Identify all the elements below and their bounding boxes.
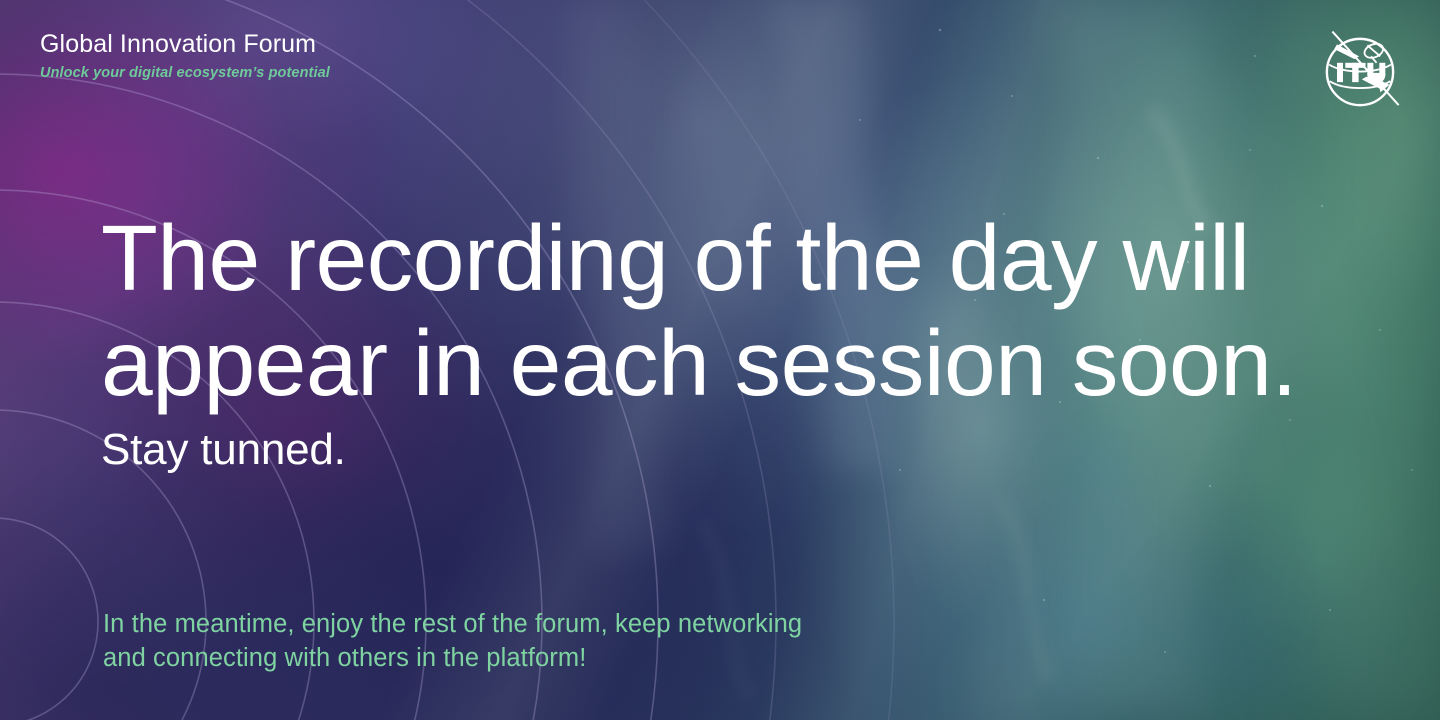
presentation-slide: Global Innovation Forum Unlock your digi…	[0, 0, 1440, 720]
headline-line-2: appear in each session soon.	[101, 311, 1331, 416]
footer-note-line-2: and connecting with others in the platfo…	[103, 642, 802, 676]
brand-tagline: Unlock your digital ecosystem’s potentia…	[40, 66, 330, 81]
itu-logo-icon	[1314, 26, 1406, 118]
brand-title: Global Innovation Forum	[40, 32, 330, 57]
footer-note: In the meantime, enjoy the rest of the f…	[103, 608, 802, 675]
subheadline: Stay tunned.	[101, 426, 1331, 474]
page-title: The recording of the day will appear in …	[101, 206, 1331, 416]
footer-note-line-1: In the meantime, enjoy the rest of the f…	[103, 608, 802, 642]
brand-header: Global Innovation Forum Unlock your digi…	[40, 32, 330, 81]
headline-line-1: The recording of the day will	[101, 206, 1331, 311]
ring-1	[0, 518, 98, 720]
headline-block: The recording of the day will appear in …	[101, 206, 1331, 475]
